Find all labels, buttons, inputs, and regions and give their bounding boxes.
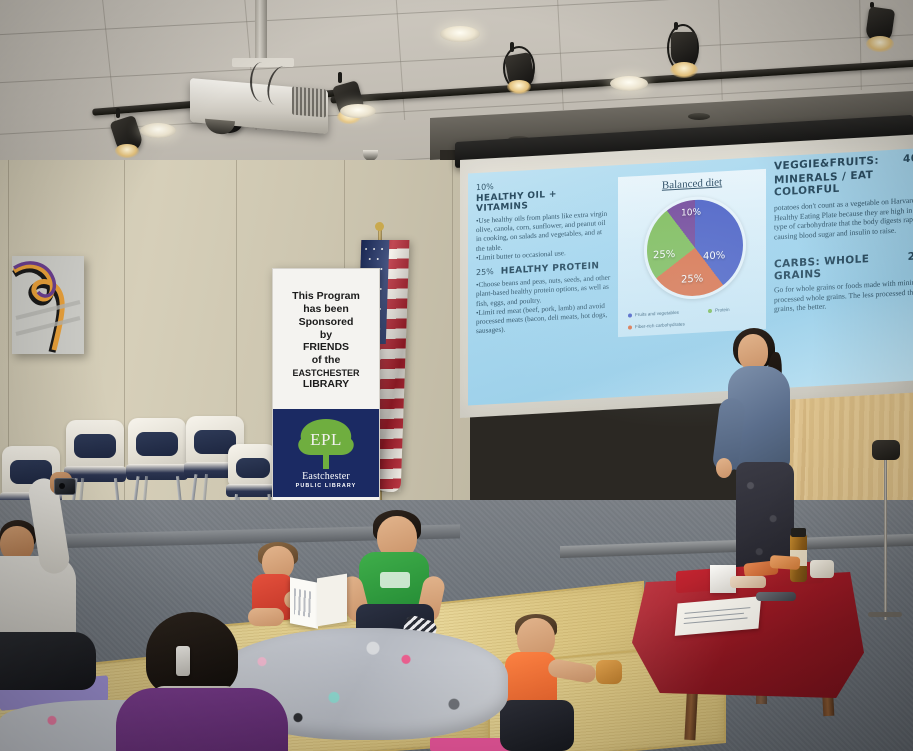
- food-sample[interactable]: [756, 592, 796, 601]
- svg-text:EPL: EPL: [310, 430, 342, 449]
- banner-message: This Program has been Sponsored by FRIEN…: [273, 269, 379, 409]
- pie-chart: 40% 25% 25% 10%: [644, 194, 746, 302]
- banner-line: Sponsored: [299, 317, 354, 329]
- hair-clip: [176, 646, 190, 676]
- projector-mount-pole: [255, 0, 267, 62]
- book-right-page: [317, 574, 347, 627]
- chart-title: Balanced diet: [618, 174, 766, 194]
- abstract-wall-art: [12, 256, 84, 354]
- pie-label-veggies: 40%: [703, 250, 725, 262]
- slide-veggie-percent: 40%: [903, 152, 913, 165]
- sponsor-banner: This Program has been Sponsored by FRIEN…: [272, 268, 380, 532]
- ceiling-vent: [688, 113, 710, 120]
- chart-legend-item: Fiber-rich carbohydrates: [628, 321, 685, 329]
- flag-finial: [375, 222, 384, 231]
- slide-veggie-body: potatoes don't count as a vegetable on H…: [774, 194, 913, 242]
- banner-line: of the: [312, 355, 341, 367]
- wooden-toy[interactable]: [596, 660, 622, 684]
- slide-oil-body: •Use healthy oils from plants like extra…: [476, 210, 612, 264]
- projection-screen: 10% HEALTHY OIL + VITAMINS •Use healthy …: [460, 135, 913, 418]
- recessed-downlight: [340, 104, 376, 118]
- epl-tree-icon: EPL: [293, 417, 359, 471]
- recessed-downlight: [610, 76, 648, 91]
- smartphone[interactable]: [54, 478, 76, 495]
- book-illustration: [294, 588, 312, 617]
- open-picture-book[interactable]: [290, 574, 348, 628]
- banner-line: EASTCHESTER: [292, 368, 359, 378]
- pie-label-protein: 25%: [653, 249, 675, 261]
- pie-label-carbs: 25%: [681, 273, 703, 285]
- legend-swatch-protein: [708, 309, 712, 313]
- adult-purple-top: [116, 688, 288, 751]
- presentation-slide: 10% HEALTHY OIL + VITAMINS •Use healthy …: [468, 149, 913, 406]
- banner-line: This Program: [292, 291, 360, 303]
- banner-line: has been: [303, 304, 349, 316]
- food-sample[interactable]: [810, 560, 834, 578]
- shirt-graphic: [380, 572, 410, 588]
- food-sample[interactable]: [770, 555, 801, 570]
- library-name: Eastchester: [302, 471, 350, 482]
- legend-swatch-veggies: [628, 313, 632, 317]
- food-sample[interactable]: [730, 576, 766, 588]
- camera-lens-icon: [59, 483, 65, 489]
- adult-purple-hair: [146, 612, 238, 696]
- presenter-hand: [716, 458, 732, 478]
- slide-carbs-body: Go for whole grains or foods made with m…: [774, 276, 913, 314]
- slide-carbs-heading: CARBS: WHOLE GRAINS: [774, 252, 896, 283]
- pie-label-oil: 10%: [681, 208, 701, 219]
- chart-legend-item: Fruits and vegetables: [628, 310, 679, 318]
- slide-protein-percent: 25%: [476, 267, 494, 277]
- adult-photographer-legs: [0, 632, 96, 690]
- banner-line: LIBRARY: [303, 379, 349, 391]
- mounted-equipment: [872, 440, 900, 460]
- photo-scene: 10% HEALTHY OIL + VITAMINS •Use healthy …: [0, 0, 913, 751]
- slide-protein-body: •Choose beans and peas, nuts, seeds, and…: [476, 274, 612, 337]
- recessed-downlight: [140, 123, 176, 138]
- banner-line: FRIENDS: [303, 342, 349, 354]
- toddler-leg: [248, 608, 284, 626]
- library-subtitle: PUBLIC LIBRARY: [296, 483, 357, 489]
- slide-carbs-percent: 25%: [908, 249, 913, 262]
- table-cloth-highlight: [632, 572, 864, 698]
- chart-legend-item: Protein: [708, 307, 730, 313]
- legend-swatch-carbs: [628, 325, 632, 329]
- presenter-head: [738, 334, 768, 370]
- baby-pants: [500, 700, 574, 751]
- equipment-stand-base: [868, 612, 902, 617]
- banner-line: by: [320, 330, 332, 342]
- balanced-diet-chart: Balanced diet 40% 25% 25% 10% Fruits and…: [618, 169, 766, 337]
- library-logo-block: EPL Eastchester PUBLIC LIBRARY: [273, 409, 379, 497]
- projector-vent: [292, 87, 326, 118]
- bottle-cap: [791, 528, 806, 537]
- equipment-stand: [884, 452, 887, 620]
- recessed-downlight: [440, 26, 480, 42]
